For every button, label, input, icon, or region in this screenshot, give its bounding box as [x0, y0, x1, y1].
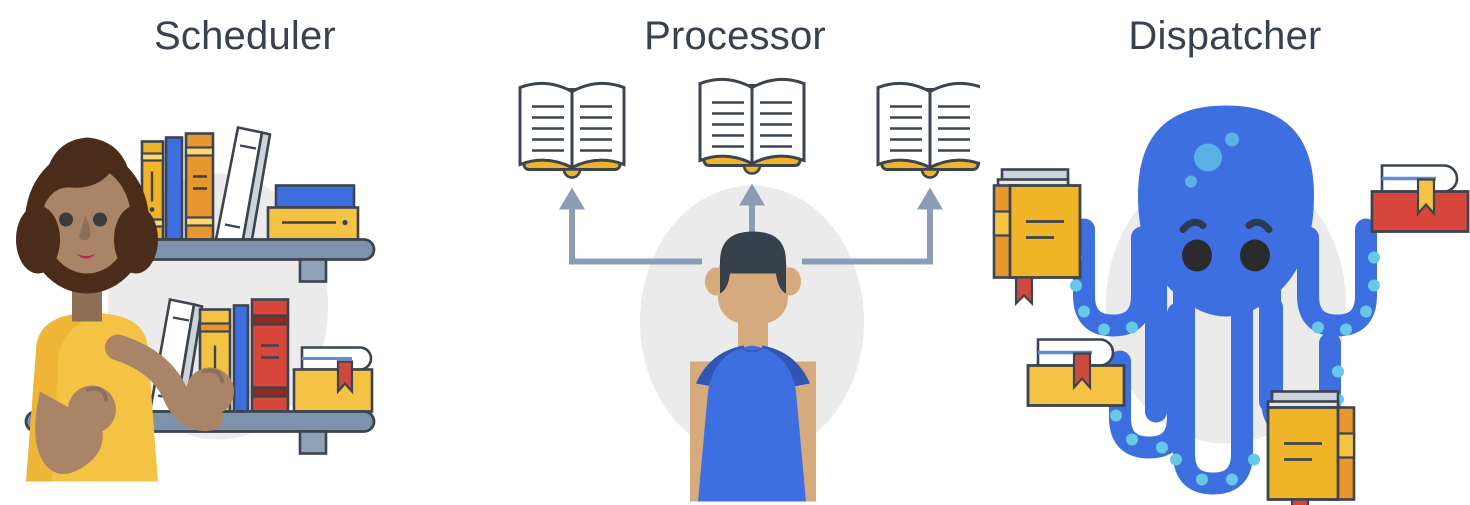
open-book-left	[520, 83, 624, 177]
book-stack-yellow-blue-bottom	[294, 348, 372, 412]
panel-title-scheduler: Scheduler	[154, 14, 336, 58]
eye-right	[1240, 240, 1270, 272]
processor-illustration	[490, 58, 980, 505]
panel-dispatcher: Dispatcher	[980, 0, 1470, 505]
spot-large	[1194, 144, 1222, 172]
book-orange-upright-top	[186, 134, 213, 240]
eye-left	[1182, 240, 1212, 272]
dispatcher-illustration	[980, 58, 1470, 505]
spot-small	[1185, 176, 1197, 188]
open-book-right	[878, 83, 980, 177]
book-lower-left	[1028, 340, 1124, 406]
book-upper-right	[1372, 166, 1468, 232]
book-upper-left	[994, 170, 1080, 304]
book-blue-thin-bottom	[234, 306, 248, 412]
open-book-center	[700, 79, 804, 173]
panel-title-dispatcher: Dispatcher	[1128, 14, 1321, 58]
panel-scheduler: Scheduler	[0, 0, 490, 505]
book-blue-upright-top	[166, 138, 182, 240]
processor-svg	[490, 58, 980, 505]
book-stack-blue-yellow-top	[268, 186, 358, 240]
scheduler-svg	[0, 58, 490, 505]
processor-figure	[690, 232, 816, 502]
panel-title-processor: Processor	[644, 14, 826, 58]
book-lower-right	[1268, 392, 1354, 505]
panel-processor: Processor	[490, 0, 980, 505]
scheduler-illustration	[0, 58, 490, 505]
book-red-upright-bottom	[252, 300, 288, 412]
spot-medium	[1225, 133, 1239, 147]
dispatcher-svg	[980, 58, 1470, 505]
eye-right	[93, 213, 107, 227]
eye-left	[59, 213, 73, 227]
diagram-board: Scheduler	[0, 0, 1470, 505]
